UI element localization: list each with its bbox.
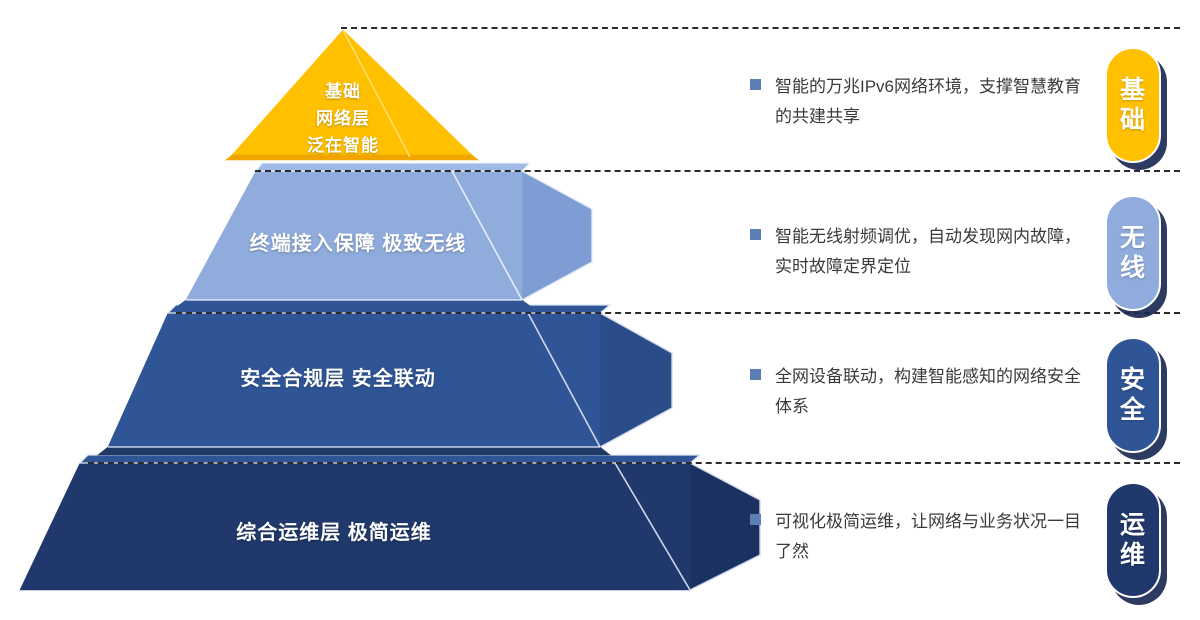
pyramid-tier-4[interactable] [20,455,760,590]
pyramid-tier-3[interactable] [98,305,672,455]
pill-2-char-2: 线 [1120,253,1146,283]
description-row-4: 可视化极简运维，让网络与业务状况一目了然 [750,507,1085,567]
bullet-square-icon [750,79,761,90]
description-text-1: 智能的万兆IPv6网络环境，支撑智慧教育的共建共享 [775,72,1085,132]
pill-badge-foundation[interactable]: 基 础 [1105,47,1161,163]
description-row-2: 智能无线射频调优，自动发现网内故障，实时故障定界定位 [750,222,1085,282]
bullet-square-icon [750,369,761,380]
pill-badge-security[interactable]: 安 全 [1105,337,1161,453]
description-text-3: 全网设备联动，构建智能感知的网络安全体系 [775,362,1085,422]
tier-3-base-slab [98,447,610,455]
description-text-2: 智能无线射频调优，自动发现网内故障，实时故障定界定位 [775,222,1085,282]
pill-badge-operations[interactable]: 运 维 [1105,482,1161,598]
description-row-3: 全网设备联动，构建智能感知的网络安全体系 [750,362,1085,422]
pill-wrap-1: 基 础 [1105,47,1161,163]
pill-4-char-1: 运 [1120,510,1146,540]
pill-1-char-2: 础 [1120,105,1146,135]
bullet-square-icon [750,514,761,525]
pill-wrap-3: 安 全 [1105,337,1161,453]
pill-3-char-2: 全 [1120,395,1146,425]
pill-3-char-1: 安 [1120,365,1146,395]
description-row-1: 智能的万兆IPv6网络环境，支撑智慧教育的共建共享 [750,72,1085,132]
pyramid-tier-1[interactable] [226,30,478,160]
divider-2 [255,170,1180,172]
description-text-4: 可视化极简运维，让网络与业务状况一目了然 [775,507,1085,567]
pill-2-char-1: 无 [1120,223,1146,253]
bullet-square-icon [750,229,761,240]
tier-3-front-face [108,313,600,447]
pill-wrap-4: 运 维 [1105,482,1161,598]
tier-2-base-slab [178,300,530,306]
divider-4 [88,462,1180,464]
pill-wrap-2: 无 线 [1105,195,1161,311]
tier-1-front-face [232,30,472,155]
divider-3 [176,312,1180,314]
tier-4-front-face [20,463,690,590]
tier-1-base-slab [226,155,478,160]
tier-2-front-face [186,171,522,300]
diagram-canvas: 基础 网络层 泛在智能 终端接入保障 极致无线 安全合规层 安全联动 综合运维层… [0,0,1200,620]
pill-4-char-2: 维 [1120,540,1146,570]
pill-badge-wireless[interactable]: 无 线 [1105,195,1161,311]
pyramid-tier-2[interactable] [178,163,592,306]
divider-1 [341,27,1180,29]
pill-1-char-1: 基 [1120,75,1146,105]
